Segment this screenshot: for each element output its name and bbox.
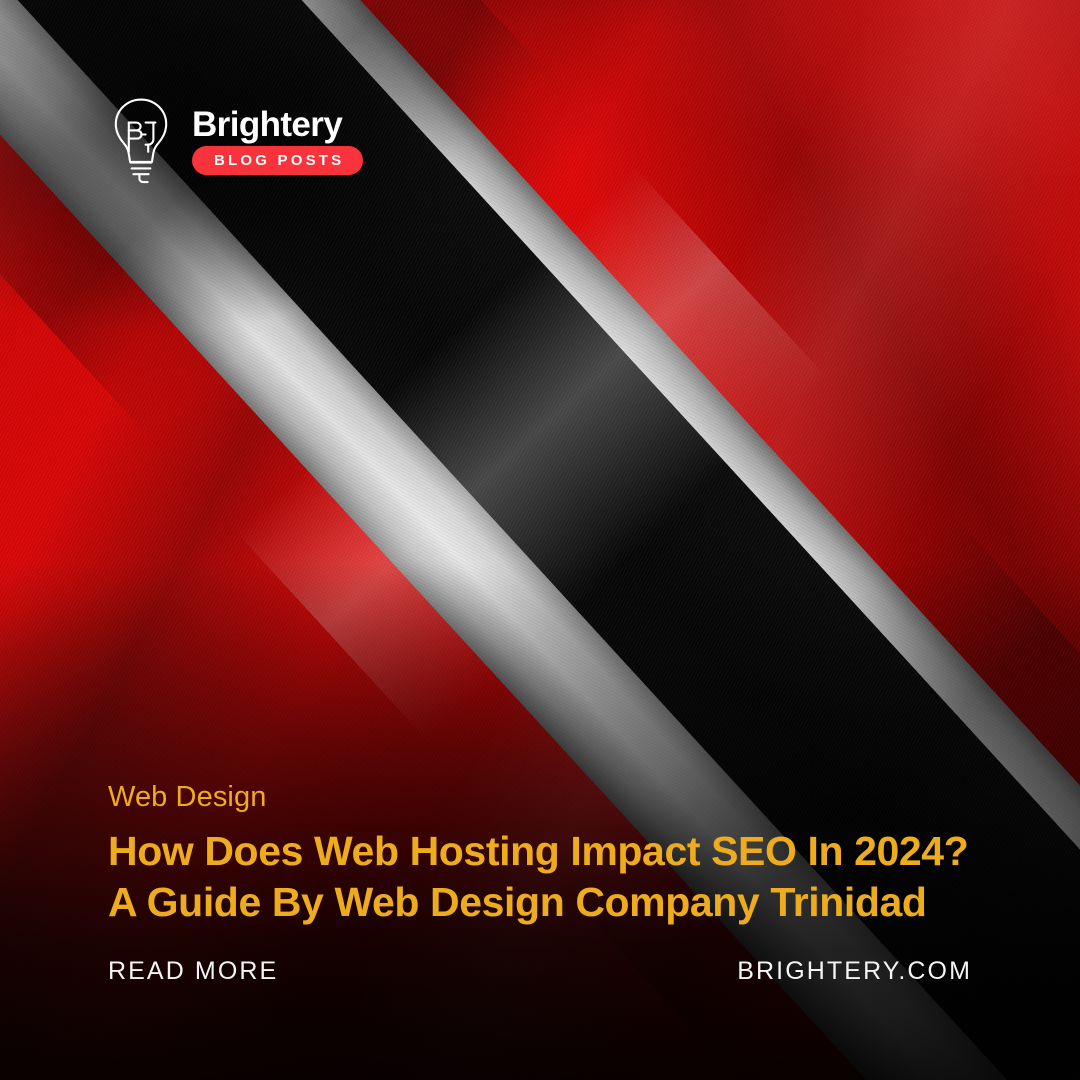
brand-wordmark: Brightery [192, 107, 342, 142]
post-title: How Does Web Hosting Impact SEO In 2024?… [108, 826, 972, 929]
blog-post-card: Brightery BLOG POSTS Web Design How Does… [0, 0, 1080, 1080]
site-url-label: BRIGHTERY.COM [737, 959, 972, 984]
read-more-button[interactable]: READ MORE [108, 959, 278, 984]
card-footer-row: READ MORE BRIGHTERY.COM [108, 959, 972, 984]
brand-logo-text: Brightery BLOG POSTS [192, 107, 363, 175]
lightbulb-monogram-icon [108, 96, 174, 186]
post-content-block: Web Design How Does Web Hosting Impact S… [108, 782, 972, 984]
blog-posts-badge[interactable]: BLOG POSTS [192, 146, 363, 175]
post-category-label[interactable]: Web Design [108, 782, 972, 814]
brand-logo-lockup[interactable]: Brightery BLOG POSTS [108, 96, 363, 186]
